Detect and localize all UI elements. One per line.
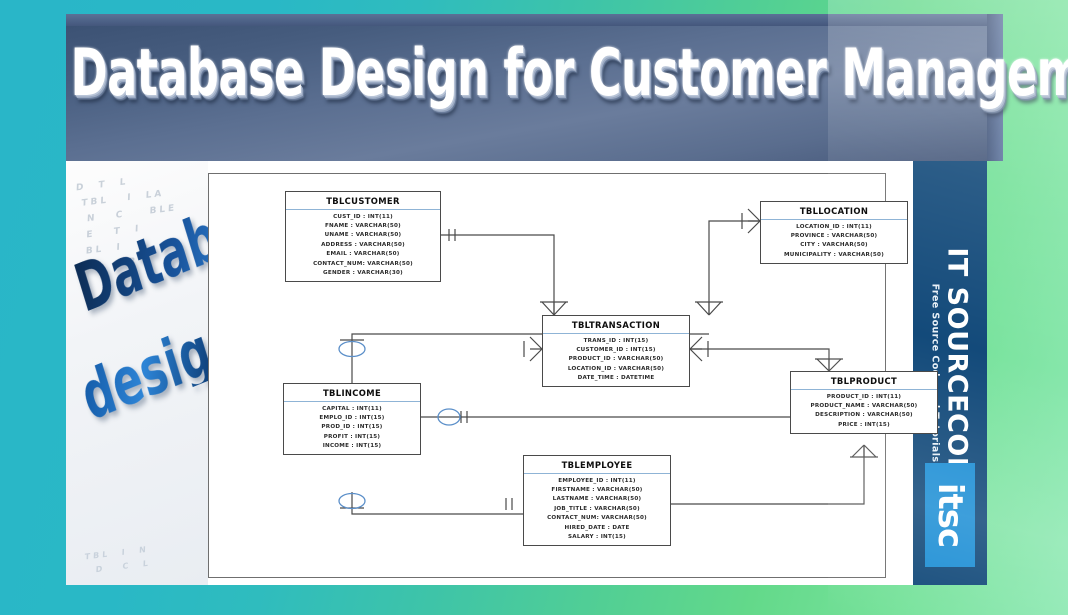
entity-field: CAPITAL : INT(11) (284, 404, 420, 413)
entity-field-list: PRODUCT_ID : INT(11)PRODUCT_NAME : VARCH… (791, 390, 937, 433)
banner-top-bevel (66, 14, 1003, 26)
entity-field: DESCRIPTION : VARCHAR(50) (791, 411, 937, 420)
entity-field: PRODUCT_NAME : VARCHAR(50) (791, 401, 937, 410)
itsc-logo-text: itsc (930, 483, 970, 547)
title-banner: Database Design for Customer Management … (66, 14, 1003, 161)
entity-field: MUNICIPALITY : VARCHAR(50) (761, 250, 907, 259)
entity-field: CUST_ID : INT(11) (286, 212, 440, 221)
entity-field-list: EMPLOYEE_ID : INT(11)FIRSTNAME : VARCHAR… (524, 474, 670, 545)
entity-field: FIRSTNAME : VARCHAR(50) (524, 485, 670, 494)
entity-title: TBLTRANSACTION (543, 316, 689, 334)
entity-field: PROD_ID : INT(15) (284, 423, 420, 432)
entity-tblproduct[interactable]: TBLPRODUCTPRODUCT_ID : INT(11)PRODUCT_NA… (790, 371, 938, 434)
entity-tblincome[interactable]: TBLINCOMECAPITAL : INT(11)EMPLO_ID : INT… (283, 383, 421, 455)
entity-tbltransaction[interactable]: TBLTRANSACTIONTRANS_ID : INT(15)CUSTOMER… (542, 315, 690, 387)
entity-tbllocation[interactable]: TBLLOCATIONLOCATION_ID : INT(11)PROVINCE… (760, 201, 908, 264)
entity-field: PROFIT : INT(15) (284, 432, 420, 441)
decor-faint-bottom-text: TBL I N D C L (84, 535, 208, 578)
entity-tblemployee[interactable]: TBLEMPLOYEEEMPLOYEE_ID : INT(11)FIRSTNAM… (523, 455, 671, 546)
entity-field: DATE_TIME : DATETIME (543, 374, 689, 383)
entity-field-list: CUST_ID : INT(11)FNAME : VARCHAR(50)UNAM… (286, 210, 440, 281)
banner-face (66, 26, 987, 161)
entity-title: TBLCUSTOMER (286, 192, 440, 210)
entity-field: CITY : VARCHAR(50) (761, 241, 907, 250)
entity-field: GENDER : VARCHAR(30) (286, 268, 440, 277)
entity-title: TBLINCOME (284, 384, 420, 402)
entity-title: TBLPRODUCT (791, 372, 937, 390)
entity-field: SALARY : INT(15) (524, 532, 670, 541)
entity-field: LASTNAME : VARCHAR(50) (524, 495, 670, 504)
entity-field: TRANS_ID : INT(15) (543, 336, 689, 345)
banner-right-bevel (987, 14, 1003, 161)
entity-field: INCOME : INT(15) (284, 442, 420, 451)
decor-word-design: design (76, 311, 208, 427)
erd-diagram-frame: TBLCUSTOMERCUST_ID : INT(11)FNAME : VARC… (208, 173, 886, 578)
decorative-database-design-image: D T L TBL I LA N C BLE E T I BL I L TB R… (66, 161, 208, 585)
entity-field: ADDRESS : VARCHAR(50) (286, 240, 440, 249)
entity-field: UNAME : VARCHAR(50) (286, 231, 440, 240)
entity-field: EMPLOYEE_ID : INT(11) (524, 476, 670, 485)
entity-field: PROVINCE : VARCHAR(50) (761, 231, 907, 240)
entity-field: CUSTOMER_ID : INT(15) (543, 345, 689, 354)
entity-title: TBLLOCATION (761, 202, 907, 220)
entity-field: EMPLO_ID : INT(15) (284, 413, 420, 422)
entity-field: PRICE : INT(15) (791, 420, 937, 429)
entity-field: LOCATION_ID : VARCHAR(50) (543, 364, 689, 373)
entity-field: LOCATION_ID : INT(11) (761, 222, 907, 231)
itsc-logo-badge: itsc (925, 463, 975, 567)
slide-body: D T L TBL I LA N C BLE E T I BL I L TB R… (66, 161, 987, 585)
entity-title: TBLEMPLOYEE (524, 456, 670, 474)
entity-field-list: TRANS_ID : INT(15)CUSTOMER_ID : INT(15)P… (543, 334, 689, 386)
entity-field: PRODUCT_ID : VARCHAR(50) (543, 355, 689, 364)
slide-canvas: Database Design for Customer Management … (0, 0, 1068, 615)
entity-field-list: CAPITAL : INT(11)EMPLO_ID : INT(15)PROD_… (284, 402, 420, 454)
entity-field-list: LOCATION_ID : INT(11)PROVINCE : VARCHAR(… (761, 220, 907, 263)
entity-field: PRODUCT_ID : INT(11) (791, 392, 937, 401)
entity-field: EMAIL : VARCHAR(50) (286, 250, 440, 259)
entity-field: CONTACT_NUM: VARCHAR(50) (286, 259, 440, 268)
entity-field: HIRED_DATE : DATE (524, 523, 670, 532)
entity-tblcustomer[interactable]: TBLCUSTOMERCUST_ID : INT(11)FNAME : VARC… (285, 191, 441, 282)
entity-field: FNAME : VARCHAR(50) (286, 221, 440, 230)
entity-field: JOB_TITLE : VARCHAR(50) (524, 504, 670, 513)
entity-field: CONTACT_NUM: VARCHAR(50) (524, 514, 670, 523)
